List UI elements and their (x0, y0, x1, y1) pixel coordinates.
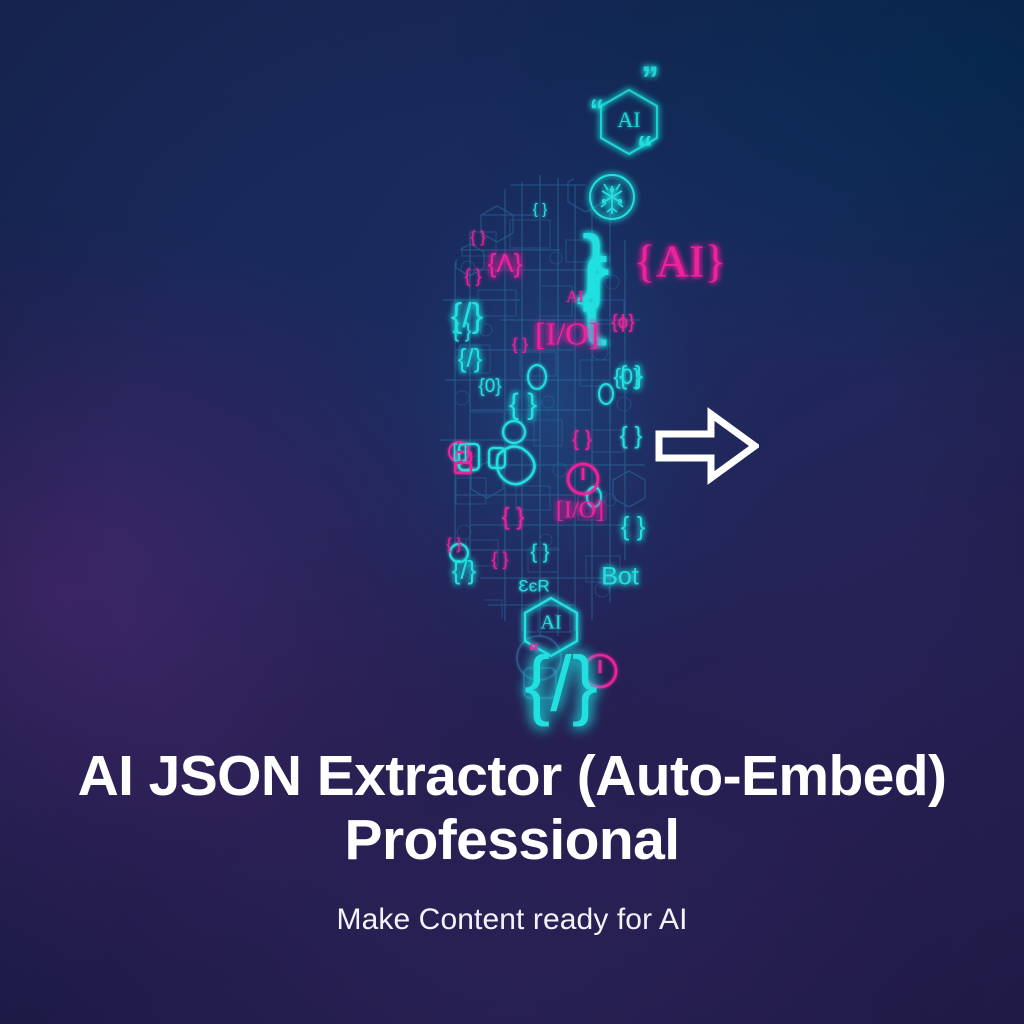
code-symbol-quote-open-top: “ (590, 94, 605, 127)
page-title: AI JSON Extractor (Auto-Embed) Professio… (0, 744, 1024, 873)
code-symbol-frag-brace-a: {Λ} (488, 248, 523, 278)
page-subtitle: Make Content ready for AI (0, 903, 1024, 937)
code-symbol-frag-brace-g: { } (572, 428, 592, 451)
promo-text-block: AI JSON Extractor (Auto-Embed) Professio… (0, 744, 1024, 937)
code-symbol-quote-close-top: ” (641, 59, 659, 100)
code-symbol-brace-empty-cyan: { } (620, 422, 643, 449)
code-symbol-frag-brace-b: { } (464, 266, 481, 286)
code-symbol-frag-brace-m: { } (446, 536, 462, 553)
code-symbol-frag-brace-d: {0} (614, 364, 641, 389)
code-symbol-frag-ai-small: AI (566, 287, 584, 306)
promo-banner: “”“AI{AI}}{[I/O]{/}{/}{ }{ }{ }[I/O]{/}B… (0, 0, 1024, 1024)
code-symbol-bracket-io-lower: [I/O] (556, 498, 604, 524)
code-symbol-frag-brace-e: { } (512, 334, 528, 353)
code-symbol-frag-brace-o: { } (533, 201, 547, 218)
code-symbol-frag-brace-c: {0} (478, 376, 501, 397)
code-symbol-frag-brace-i: { } (502, 503, 525, 530)
code-symbol-frag-brace-f: { } (509, 388, 537, 421)
code-symbol-brace-empty-cyan-2: { } (621, 511, 646, 541)
code-symbol-badge-ai-top: AI (617, 107, 640, 132)
code-symbol-frag-brace-k: { } (491, 549, 508, 569)
code-symbol-frag-brace-h: [ ] (452, 441, 467, 461)
code-symbol-frag-brace-l: { } (453, 320, 472, 342)
code-symbol-brace-slash-hero: {/} (524, 640, 598, 728)
code-symbol-frag-eer: ƐєR (518, 576, 549, 595)
code-symbol-frag-phi: {ϕ} (611, 312, 634, 333)
code-symbol-brace-slash-cyan-3: {/} (452, 555, 477, 585)
code-symbol-frag-brace-j: { } (531, 541, 550, 563)
code-symbol-quote-open-lower: “ (637, 129, 653, 165)
arrow-right-icon (655, 404, 759, 488)
code-symbol-badge-ai-lower: AI (540, 612, 561, 634)
code-symbol-brace-slash-cyan-2: {/} (458, 343, 483, 373)
code-symbol-label-bot: Bot (601, 563, 639, 591)
code-symbol-bracket-io: [I/O] (535, 315, 599, 351)
code-symbol-frag-brace-n: { } (470, 229, 486, 246)
code-symbol-brace-ai-magenta: {AI} (634, 236, 727, 287)
